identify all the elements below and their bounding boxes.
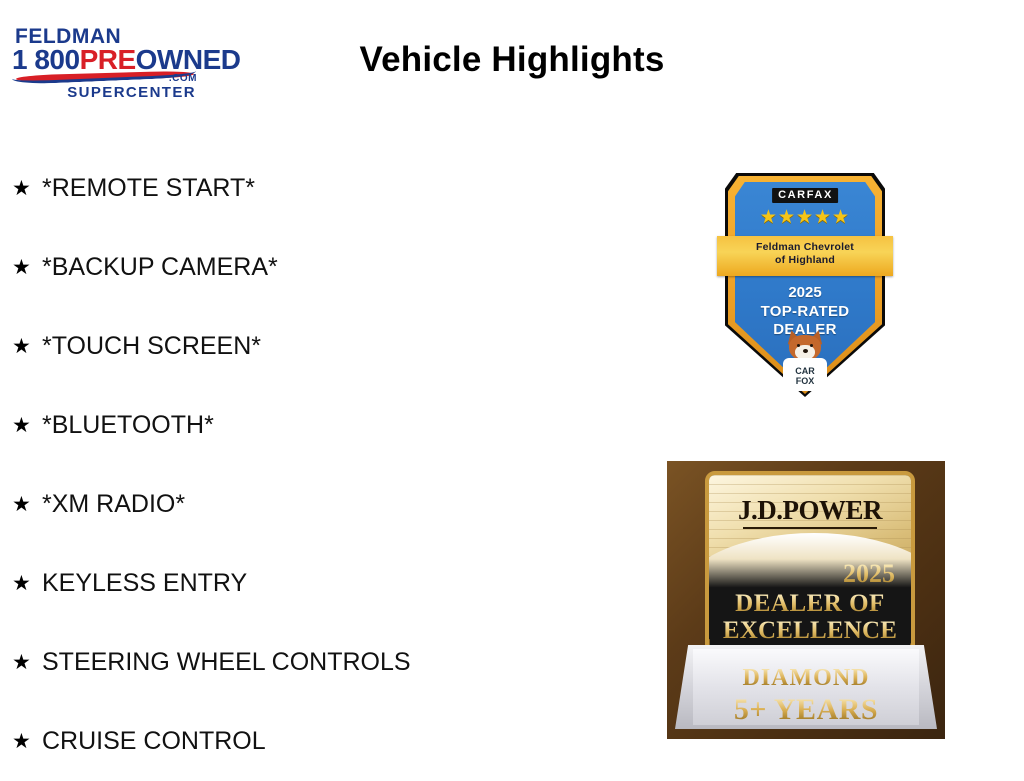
highlight-label: *XM RADIO*	[42, 492, 185, 517]
carfax-award-title-line1: TOP-RATED	[725, 303, 885, 321]
list-item: ★ *BLUETOOTH*	[12, 386, 632, 465]
star-icon: ★	[12, 652, 42, 673]
dealer-logo-tagline: SUPERCENTER	[67, 84, 196, 101]
fox-tshirt-line1: CAR	[783, 366, 827, 376]
carfax-top-rated-dealer-badge: CARFAX ★★★★★ Feldman Chevrolet of Highla…	[725, 173, 885, 397]
jd-power-duration: 5+ YEARS	[667, 695, 945, 725]
list-item: ★ *TOUCH SCREEN*	[12, 307, 632, 386]
jd-power-brand-underline	[743, 527, 877, 529]
highlight-label: *TOUCH SCREEN*	[42, 334, 261, 359]
list-item: ★ CRUISE CONTROL	[12, 702, 632, 781]
star-icon: ★	[12, 573, 42, 594]
fox-tshirt: CAR FOX	[783, 358, 827, 391]
vehicle-highlights-list: ★ *REMOTE START* ★ *BACKUP CAMERA* ★ *TO…	[12, 149, 632, 781]
list-item: ★ STEERING WHEEL CONTROLS	[12, 623, 632, 702]
star-icon: ★	[12, 494, 42, 515]
highlight-label: CRUISE CONTROL	[42, 729, 266, 754]
highlight-label: *BACKUP CAMERA*	[42, 255, 278, 280]
highlight-label: *REMOTE START*	[42, 176, 255, 201]
carfax-star-rating: ★★★★★	[725, 208, 885, 227]
fox-tshirt-line2: FOX	[783, 376, 827, 386]
jd-power-award-year: 2025	[843, 561, 895, 587]
car-fox-mascot-icon: CAR FOX	[779, 333, 831, 391]
fox-eye-right	[810, 344, 813, 347]
list-item: ★ *XM RADIO*	[12, 465, 632, 544]
carfax-dealer-name-line2: of Highland	[717, 254, 893, 267]
list-item: ★ *BACKUP CAMERA*	[12, 228, 632, 307]
slide-canvas: FELDMAN 1 800PREOWNED .COM SUPERCENTER V…	[0, 0, 1024, 768]
carfax-dealer-name-line1: Feldman Chevrolet	[717, 241, 893, 254]
jd-power-tier: DIAMOND	[667, 666, 945, 690]
carfax-dealer-name: Feldman Chevrolet of Highland	[717, 241, 893, 267]
list-item: ★ *REMOTE START*	[12, 149, 632, 228]
jd-power-award-title-line2: EXCELLENCE	[709, 618, 911, 643]
list-item: ★ KEYLESS ENTRY	[12, 544, 632, 623]
carfax-logo: CARFAX	[772, 188, 838, 203]
star-icon: ★	[12, 336, 42, 357]
star-icon: ★	[12, 731, 42, 752]
star-icon: ★	[12, 257, 42, 278]
page-title: Vehicle Highlights	[0, 40, 1024, 80]
star-icon: ★	[12, 178, 42, 199]
jd-power-brand: J.D.POWER	[709, 497, 911, 524]
jd-power-award-title-line1: DEALER OF	[709, 591, 911, 616]
jd-power-dealer-of-excellence-award: J.D.POWER 2025 DEALER OF EXCELLENCE DIAM…	[667, 461, 945, 739]
highlight-label: KEYLESS ENTRY	[42, 571, 247, 596]
fox-tshirt-text: CAR FOX	[783, 366, 827, 386]
fox-eye-left	[797, 344, 800, 347]
highlight-label: *BLUETOOTH*	[42, 413, 214, 438]
star-icon: ★	[12, 415, 42, 436]
fox-nose	[803, 349, 808, 353]
carfax-award-year: 2025	[725, 285, 885, 300]
carfax-dealer-ribbon: Feldman Chevrolet of Highland	[717, 236, 893, 276]
highlight-label: STEERING WHEEL CONTROLS	[42, 650, 411, 675]
